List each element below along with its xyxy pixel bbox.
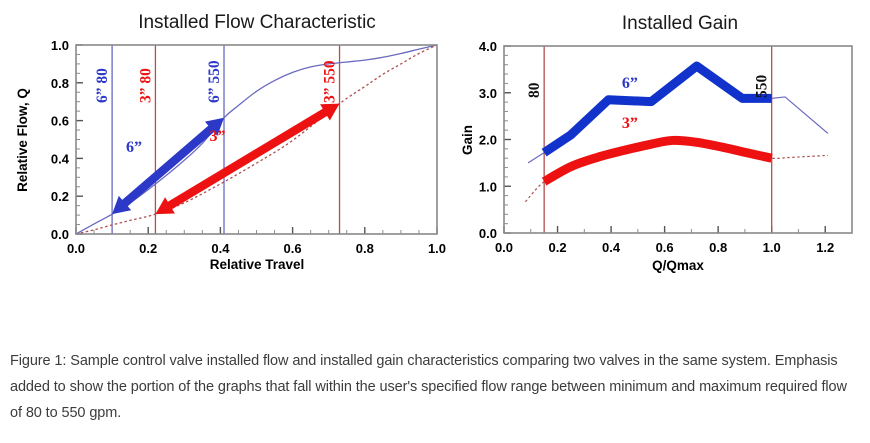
chart-title-left: Installed Flow Characteristic	[138, 12, 376, 33]
x-tick-label: 0.8	[709, 240, 727, 255]
x-tick-label: 1.0	[428, 241, 446, 256]
x-tick-label: 0.2	[548, 240, 566, 255]
x-tick-label: 1.2	[816, 240, 834, 255]
series-label: 6”	[622, 75, 638, 92]
chart-title-right: Installed Gain	[622, 13, 738, 34]
x-tick-label: 0.4	[211, 241, 230, 256]
y-tick-label: 0.0	[51, 227, 69, 242]
y-tick-label: 1.0	[479, 179, 497, 194]
y-tick-label: 0.6	[51, 114, 69, 129]
y-axis-label-left: Relative Flow, Q	[15, 88, 30, 192]
chart-installed-flow-characteristic: Installed Flow Characteristic 0.00.20.40…	[0, 0, 450, 300]
vertical-marker-label: 6” 80	[94, 68, 111, 103]
x-axis-label-left: Relative Travel	[210, 257, 305, 272]
x-tick-labels-right: 0.00.20.40.60.81.01.2	[495, 240, 834, 255]
vertical-marker-label: 80	[526, 82, 543, 98]
x-tick-labels-left: 0.00.20.40.60.81.0	[67, 241, 446, 256]
vertical-marker-label: 6” 550	[206, 60, 223, 103]
y-tick-label: 2.0	[479, 133, 497, 148]
x-tick-label: 0.0	[67, 241, 85, 256]
emphasis-arrow-label: 6”	[126, 139, 142, 156]
x-tick-label: 0.4	[602, 240, 621, 255]
series-label: 3”	[622, 115, 638, 132]
x-tick-label: 0.0	[495, 240, 513, 255]
y-tick-labels-left: 0.00.20.40.60.81.0	[51, 38, 70, 242]
vertical-marker-label: 3” 80	[137, 68, 154, 103]
y-tick-label: 1.0	[51, 38, 69, 53]
x-tick-label: 0.8	[356, 241, 374, 256]
y-axis-label-right: Gain	[460, 125, 475, 155]
x-tick-label: 0.6	[656, 240, 674, 255]
x-tick-label: 1.0	[763, 240, 781, 255]
y-tick-label: 3.0	[479, 86, 497, 101]
y-tick-label: 0.8	[51, 76, 69, 91]
vertical-marker-label: 3” 550	[322, 60, 339, 103]
x-tick-label: 0.2	[139, 241, 157, 256]
chart-installed-gain: Installed Gain 0.00.20.40.60.81.01.2 0.0…	[450, 0, 870, 300]
figure-caption: Figure 1: Sample control valve installed…	[10, 348, 860, 426]
y-tick-label: 0.2	[51, 189, 69, 204]
x-tick-label: 0.6	[284, 241, 302, 256]
y-tick-label: 0.4	[51, 151, 70, 166]
y-tick-labels-right: 0.01.02.03.04.0	[479, 39, 497, 241]
emphasis-arrow-label: 3”	[209, 128, 225, 145]
vertical-marker-label: 550	[754, 75, 771, 99]
y-tick-label: 0.0	[479, 226, 497, 241]
installed-gain-svg: Installed Gain 0.00.20.40.60.81.01.2 0.0…	[450, 0, 870, 300]
installed-flow-svg: Installed Flow Characteristic 0.00.20.40…	[0, 0, 450, 300]
x-axis-label-right: Q/Qmax	[652, 258, 704, 273]
y-tick-label: 4.0	[479, 39, 497, 54]
figure-graphics: Installed Flow Characteristic 0.00.20.40…	[0, 0, 870, 300]
